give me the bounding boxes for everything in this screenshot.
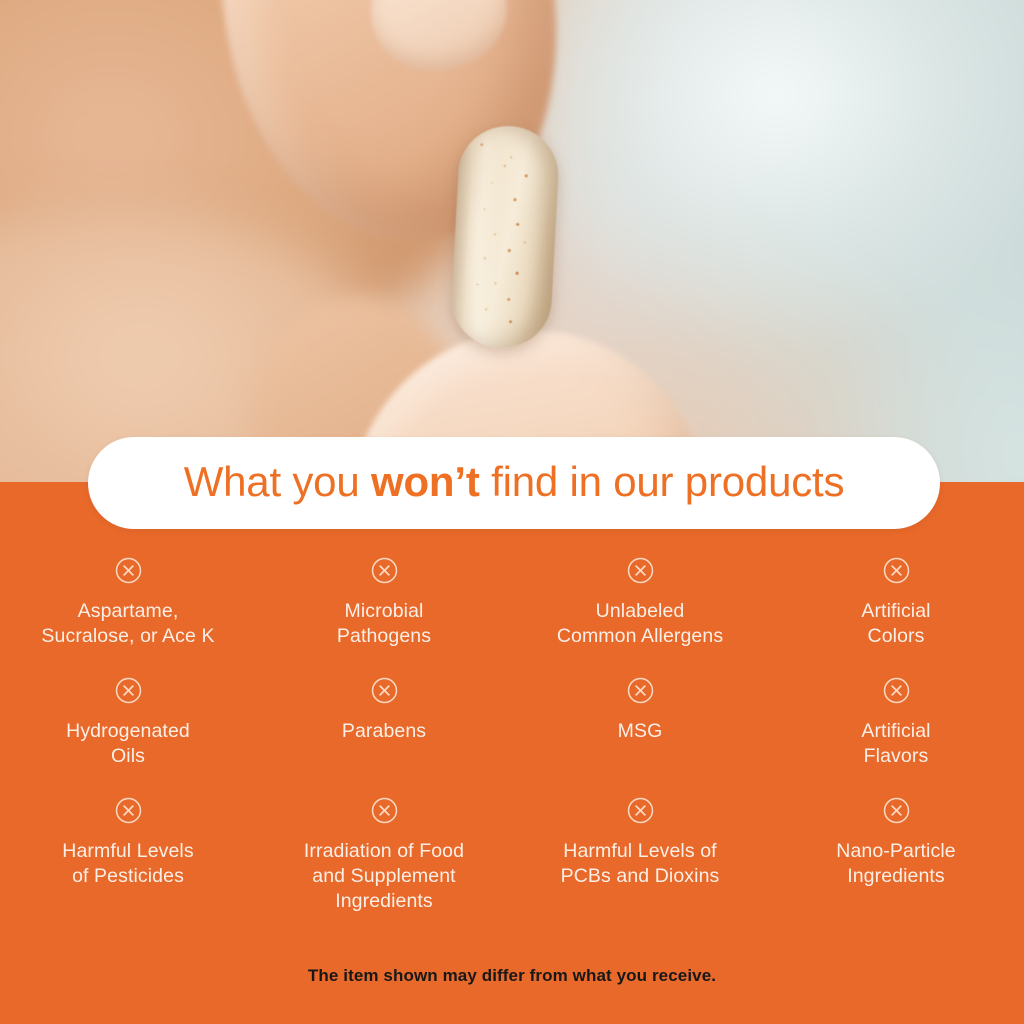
list-item-label: Artificial Colors <box>861 599 930 649</box>
circle-x-icon <box>882 796 911 825</box>
circle-x-icon <box>370 796 399 825</box>
list-item: Artificial Flavors <box>768 676 1024 796</box>
page-title: What you won’t find in our products <box>184 461 845 506</box>
list-item-label: Unlabeled Common Allergens <box>557 599 723 649</box>
list-item-label: Harmful Levels of PCBs and Dioxins <box>561 839 720 889</box>
circle-x-icon <box>370 556 399 585</box>
headline-part-2: find in our products <box>480 458 845 505</box>
circle-x-icon <box>626 556 655 585</box>
circle-x-icon <box>114 556 143 585</box>
disclaimer-text: The item shown may differ from what you … <box>0 966 1024 986</box>
list-item: Irradiation of Food and Supplement Ingre… <box>256 796 512 914</box>
product-claims-poster: What you won’t find in our products Aspa… <box>0 0 1024 1024</box>
product-photo <box>0 0 1024 483</box>
headline-part-1: What you <box>184 458 371 505</box>
list-item: Artificial Colors <box>768 556 1024 676</box>
list-item-label: Aspartame, Sucralose, or Ace K <box>41 599 214 649</box>
list-item: MSG <box>512 676 768 796</box>
circle-x-icon <box>114 796 143 825</box>
circle-x-icon <box>626 676 655 705</box>
list-item: Microbial Pathogens <box>256 556 512 676</box>
circle-x-icon <box>370 676 399 705</box>
supplement-tablet <box>449 124 560 351</box>
list-item: Parabens <box>256 676 512 796</box>
circle-x-icon <box>114 676 143 705</box>
list-item-label: Artificial Flavors <box>861 719 930 769</box>
list-item-label: Parabens <box>342 719 426 744</box>
list-item: Nano-Particle Ingredients <box>768 796 1024 914</box>
list-item-label: MSG <box>618 719 663 744</box>
excluded-ingredients-grid: Aspartame, Sucralose, or Ace K Microbial… <box>0 556 1024 914</box>
list-item-label: Hydrogenated Oils <box>66 719 190 769</box>
list-item: Harmful Levels of PCBs and Dioxins <box>512 796 768 914</box>
headline-pill: What you won’t find in our products <box>88 437 940 529</box>
list-item: Hydrogenated Oils <box>0 676 256 796</box>
list-item: Unlabeled Common Allergens <box>512 556 768 676</box>
list-item-label: Harmful Levels of Pesticides <box>62 839 193 889</box>
circle-x-icon <box>626 796 655 825</box>
list-item-label: Irradiation of Food and Supplement Ingre… <box>304 839 464 914</box>
list-item: Aspartame, Sucralose, or Ace K <box>0 556 256 676</box>
circle-x-icon <box>882 676 911 705</box>
list-item-label: Microbial Pathogens <box>337 599 431 649</box>
headline-emphasis: won’t <box>371 458 480 505</box>
list-item-label: Nano-Particle Ingredients <box>836 839 955 889</box>
circle-x-icon <box>882 556 911 585</box>
list-item: Harmful Levels of Pesticides <box>0 796 256 914</box>
